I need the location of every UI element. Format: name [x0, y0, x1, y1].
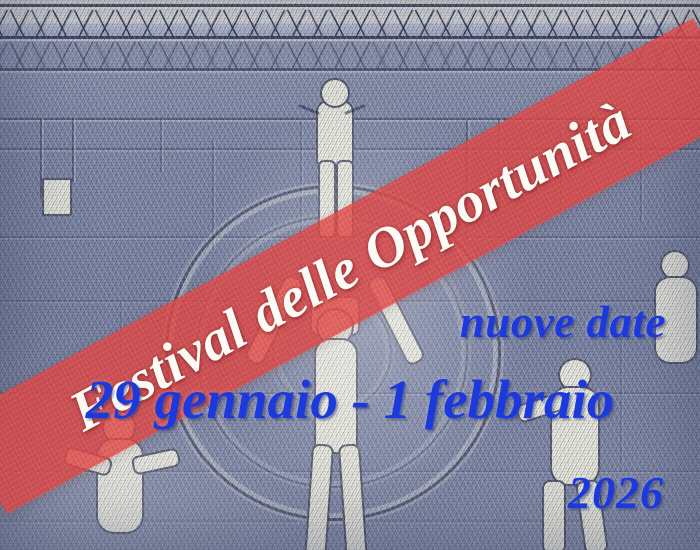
event-poster: Festival delle Opportunità nuove date 29…	[0, 0, 700, 550]
new-dates-label: nuove date	[460, 296, 666, 348]
year-text: 2026	[568, 466, 664, 519]
date-range-text: 29 gennaio - 1 febbraio	[86, 368, 615, 431]
